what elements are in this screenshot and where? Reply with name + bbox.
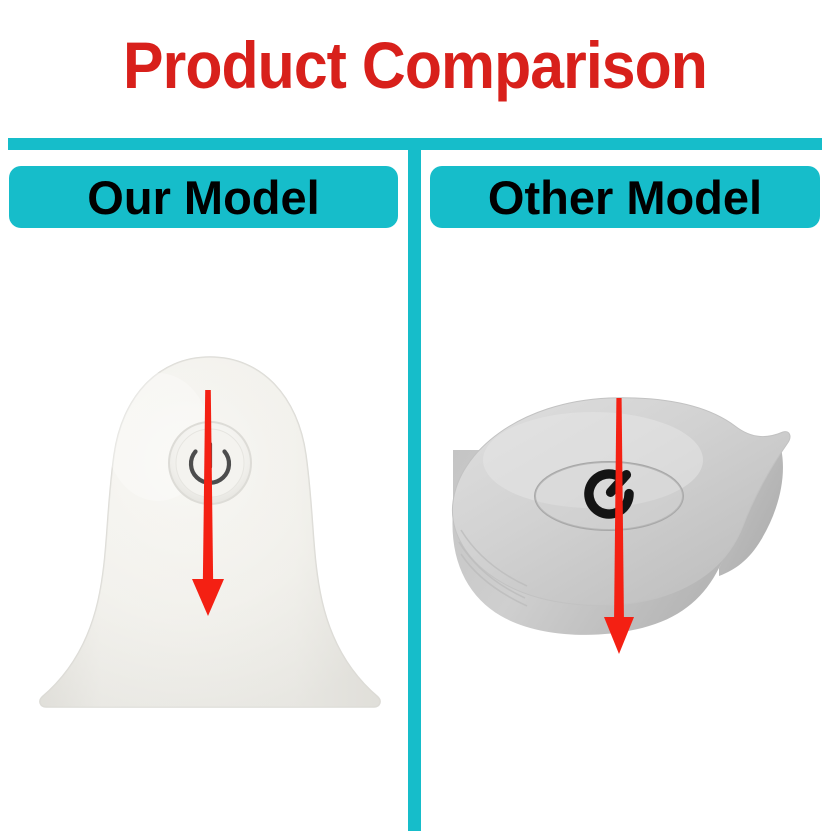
callout-arrow-other-model	[589, 398, 649, 668]
label-chip-our-model[interactable]: Our Model	[9, 166, 398, 228]
label-text-our-model: Our Model	[87, 174, 319, 221]
callout-arrow-our-model	[178, 390, 238, 630]
column-divider-rule	[408, 138, 421, 831]
label-chip-other-model[interactable]: Other Model	[430, 166, 820, 228]
column-our-model: Our Model	[0, 150, 408, 831]
label-text-other-model: Other Model	[488, 174, 762, 221]
column-other-model: Other Model	[421, 150, 830, 831]
product-comparison-graphic: Product Comparison	[0, 0, 830, 831]
page-title: Product Comparison	[33, 28, 797, 102]
